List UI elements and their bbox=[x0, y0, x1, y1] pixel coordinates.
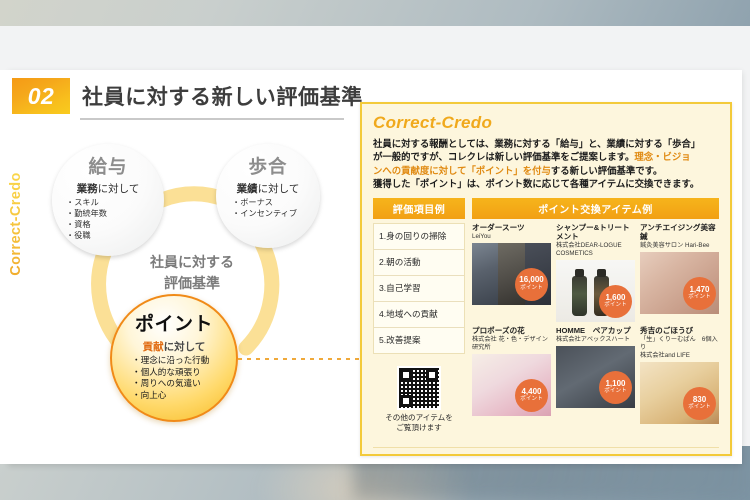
point-unit: ポイント bbox=[604, 389, 626, 395]
item-photo-sake: 1,100 ポイント bbox=[556, 346, 635, 408]
bubble-salary-subject: 業務に対して bbox=[77, 181, 140, 196]
center-caption-line2: 評価基準 bbox=[122, 273, 262, 294]
exchange-items-column: ポイント交換アイテム例 オーダースーツ LeiYou 16,000 ポイント bbox=[472, 198, 719, 433]
item-card[interactable]: 秀吉のごほうび 「生」くりーむぱん 6個入り株式会社and LIFE 830 ポ… bbox=[640, 326, 719, 424]
bubble-points: ポイント 貢献に対して ・理念に沿った行動 ・個人的な頑張り ・周りへの気遣い … bbox=[110, 294, 238, 422]
bubble-salary-list: ・スキル ・勤続年数 ・資格 ・役職 bbox=[52, 197, 107, 241]
panel-footer-rule bbox=[373, 447, 719, 448]
item-company: 株式会社DEAR-LOGUECOSMETICS bbox=[556, 242, 635, 258]
bubble-salary: 給与 業務に対して ・スキル ・勤続年数 ・資格 ・役職 bbox=[52, 144, 164, 256]
item-name: シャンプー&トリートメント bbox=[556, 223, 635, 242]
bubble-commission: 歩合 業績に対して ・ボーナス ・インセンティブ bbox=[216, 144, 320, 248]
item-card[interactable]: オーダースーツ LeiYou 16,000 ポイント bbox=[472, 223, 551, 322]
exchange-items-grid: オーダースーツ LeiYou 16,000 ポイント bbox=[472, 223, 719, 424]
list-item: ・スキル bbox=[66, 197, 107, 208]
point-value: 1,470 bbox=[689, 286, 709, 294]
bubble-commission-list: ・ボーナス ・インセンティブ bbox=[216, 197, 297, 219]
presentation-viewer-surface: Correct-Credo 02 社員に対する新しい評価基準 給与 業務に対して… bbox=[0, 26, 750, 446]
bubble-points-subject: 貢献に対して bbox=[143, 339, 206, 354]
credo-body-line1: 社員に対する報酬としては、業務に対する「給与」と、業績に対する「歩合」 bbox=[373, 137, 719, 150]
bubble-points-heading: ポイント bbox=[135, 309, 213, 336]
qr-block: その他のアイテムを ご覧頂けます bbox=[373, 366, 465, 433]
center-caption-line1: 社員に対する bbox=[122, 252, 262, 273]
list-item: ・向上心 bbox=[132, 390, 209, 402]
evaluation-items-column: 評価項目例 1.身の回りの掃除 2.朝の活動 3.自己学習 4.地域への貢献 5… bbox=[373, 198, 465, 433]
photo-bottle-cap bbox=[575, 269, 584, 277]
list-item: 1.身の回りの掃除 bbox=[374, 224, 464, 250]
item-name: オーダースーツ bbox=[472, 223, 551, 232]
item-company: 「生」くりーむぱん 6個入り株式会社and LIFE bbox=[640, 336, 719, 360]
item-photo-suits: 16,000 ポイント bbox=[472, 243, 551, 305]
point-badge: 4,400 ポイント bbox=[515, 379, 548, 412]
bubble-commission-subject: 業績に対して bbox=[237, 181, 300, 196]
credo-panel: Correct-Credo 社員に対する報酬としては、業務に対する「給与」と、業… bbox=[360, 102, 732, 456]
bubble-commission-heading: 歩合 bbox=[248, 153, 287, 179]
item-photo-spa: 1,470 ポイント bbox=[640, 252, 719, 314]
point-unit: ポイント bbox=[520, 397, 542, 403]
slide-number-badge: 02 bbox=[12, 78, 70, 114]
point-unit: ポイント bbox=[688, 405, 710, 411]
point-badge: 830 ポイント bbox=[683, 387, 716, 420]
bubble-points-list: ・理念に沿った行動 ・個人的な頑張り ・周りへの気遣い ・向上心 bbox=[112, 355, 209, 401]
credo-panel-body: 社員に対する報酬としては、業務に対する「給与」と、業績に対する「歩合」 が一般的… bbox=[373, 137, 719, 191]
list-item: 4.地域への貢献 bbox=[374, 302, 464, 328]
item-name: HOMME ペアカップ bbox=[556, 326, 635, 335]
item-company: 鍼灸美容サロン Hari-Bee bbox=[640, 242, 719, 250]
credo-body-line2: が一般的ですが、コレクレは新しい評価基準をご提案します。理念・ビジョ bbox=[373, 150, 719, 163]
point-value: 16,000 bbox=[519, 276, 543, 284]
credo-panel-title: Correct-Credo bbox=[373, 113, 719, 133]
point-value: 830 bbox=[693, 396, 706, 404]
item-photo-bottles: 1,600 ポイント bbox=[556, 260, 635, 322]
list-item: ・個人的な頑張り bbox=[132, 367, 209, 379]
list-item: 5.改善提案 bbox=[374, 328, 464, 353]
point-value: 4,400 bbox=[521, 388, 541, 396]
item-card[interactable]: プロポーズの花 株式会社 花・色・デザイン研究所 4,400 ポイント bbox=[472, 326, 551, 424]
list-item: ・役職 bbox=[66, 230, 107, 241]
item-name: 秀吉のごほうび bbox=[640, 326, 719, 335]
list-item: 3.自己学習 bbox=[374, 276, 464, 302]
qr-code-icon[interactable] bbox=[397, 366, 441, 410]
evaluation-items-header: 評価項目例 bbox=[373, 198, 465, 219]
list-item: ・資格 bbox=[66, 219, 107, 230]
photo-bottle-cap bbox=[597, 269, 606, 277]
list-item: ・理念に沿った行動 bbox=[132, 355, 209, 367]
item-name: アンチエイジング美容鍼 bbox=[640, 223, 719, 242]
point-unit: ポイント bbox=[688, 295, 710, 301]
item-photo-flowers: 4,400 ポイント bbox=[472, 354, 551, 416]
qr-eye-top-left bbox=[400, 369, 412, 381]
list-item: ・ボーナス bbox=[232, 197, 297, 208]
title-underline bbox=[80, 118, 344, 120]
diagram-center-caption: 社員に対する 評価基準 bbox=[122, 252, 262, 294]
evaluation-items-list: 1.身の回りの掃除 2.朝の活動 3.自己学習 4.地域への貢献 5.改善提案 bbox=[373, 223, 465, 354]
item-company: 株式会社アベックスハート bbox=[556, 336, 635, 344]
photo-bottle bbox=[572, 276, 587, 316]
item-company: 株式会社 花・色・デザイン研究所 bbox=[472, 336, 551, 352]
point-badge: 1,470 ポイント bbox=[683, 277, 716, 310]
point-badge: 16,000 ポイント bbox=[515, 268, 548, 301]
item-card[interactable]: HOMME ペアカップ 株式会社アベックスハート 1,100 ポイント bbox=[556, 326, 635, 424]
item-name: プロポーズの花 bbox=[472, 326, 551, 335]
photo-swatch bbox=[472, 243, 498, 305]
side-rail-label: Correct-Credo bbox=[8, 164, 24, 284]
qr-caption: その他のアイテムを ご覧頂けます bbox=[373, 413, 465, 433]
item-company: LeiYou bbox=[472, 233, 551, 241]
credo-body-line3: ンへの貢献度に対して「ポイント」を付与する新しい評価基準です。 bbox=[373, 164, 719, 177]
point-value: 1,600 bbox=[605, 294, 625, 302]
exchange-items-header: ポイント交換アイテム例 bbox=[472, 198, 719, 219]
item-card[interactable]: シャンプー&トリートメント 株式会社DEAR-LOGUECOSMETICS 1,… bbox=[556, 223, 635, 322]
qr-eye-bottom-left bbox=[400, 395, 412, 407]
side-rail: Correct-Credo bbox=[0, 70, 12, 464]
qr-caption-line2: ご覧頂けます bbox=[373, 423, 465, 433]
list-item: 2.朝の活動 bbox=[374, 250, 464, 276]
item-card[interactable]: アンチエイジング美容鍼 鍼灸美容サロン Hari-Bee 1,470 ポイント bbox=[640, 223, 719, 322]
item-photo-bun: 830 ポイント bbox=[640, 362, 719, 424]
evaluation-flow-diagram: 給与 業務に対して ・スキル ・勤続年数 ・資格 ・役職 歩合 業績に対して ・… bbox=[30, 126, 360, 456]
point-badge: 1,100 ポイント bbox=[599, 371, 632, 404]
list-item: ・周りへの気遣い bbox=[132, 378, 209, 390]
page-title: 社員に対する新しい評価基準 bbox=[82, 81, 363, 111]
qr-eye-top-right bbox=[426, 369, 438, 381]
point-badge: 1,600 ポイント bbox=[599, 285, 632, 318]
credo-body-line4: 獲得した「ポイント」は、ポイント数に応じて各種アイテムに交換できます。 bbox=[373, 177, 719, 190]
qr-caption-line1: その他のアイテムを bbox=[373, 413, 465, 423]
point-unit: ポイント bbox=[604, 303, 626, 309]
bubble-salary-heading: 給与 bbox=[88, 153, 127, 179]
point-unit: ポイント bbox=[520, 286, 542, 292]
point-value: 1,100 bbox=[605, 380, 625, 388]
list-item: ・勤続年数 bbox=[66, 208, 107, 219]
list-item: ・インセンティブ bbox=[232, 208, 297, 219]
